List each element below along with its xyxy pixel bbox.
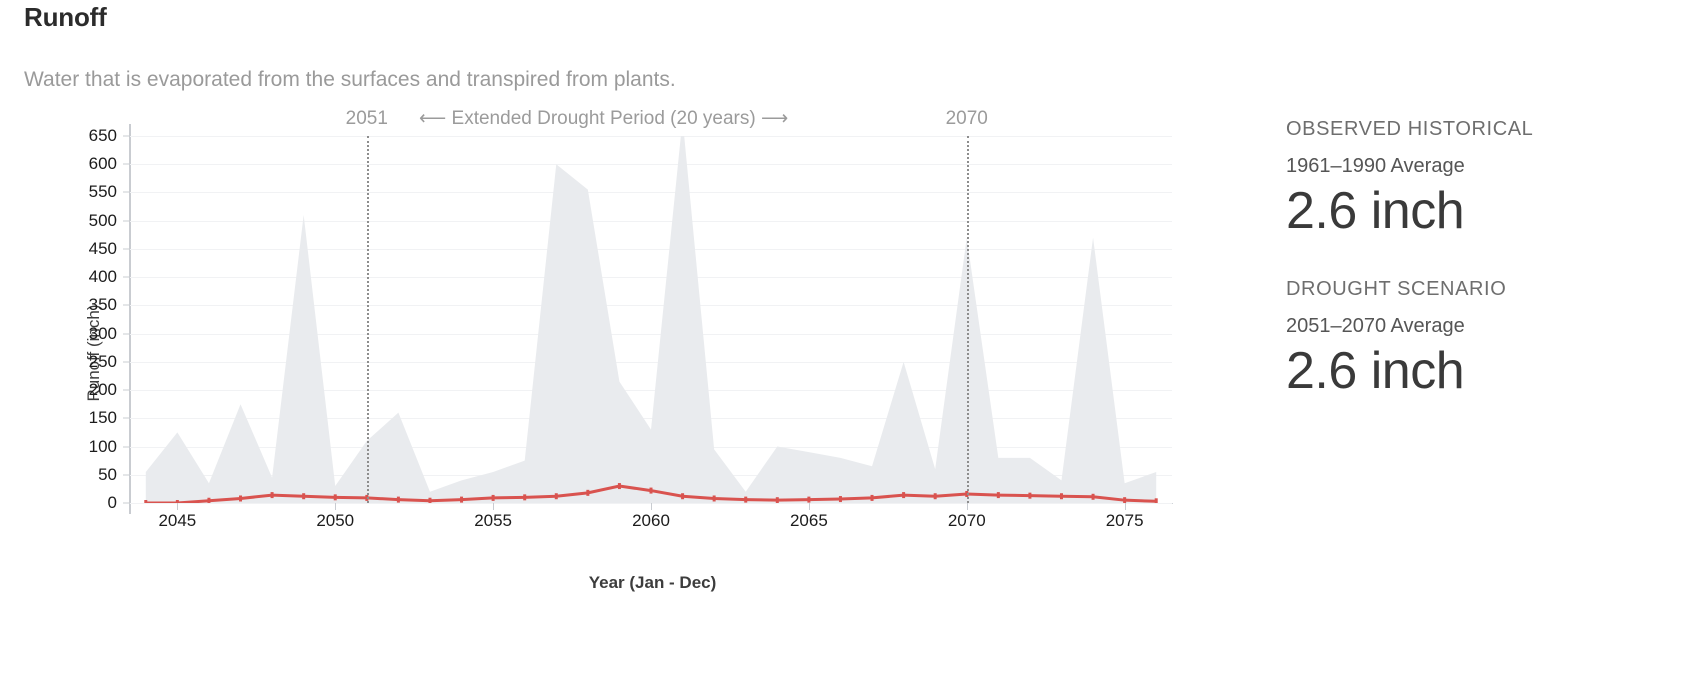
page-title: Runoff [24,2,107,33]
runoff-chart: Runoff (inch) 05010015020025030035040045… [0,118,1260,678]
data-point-marker [460,497,463,503]
x-tick-mark [1125,503,1126,510]
data-point-marker [681,493,684,499]
runoff-panel: Runoff Water that is evaporated from the… [0,0,1706,680]
stat-drought-scenario: DROUGHT SCENARIO 2051–2070 Average 2.6 i… [1286,278,1686,402]
data-point-marker [523,494,526,500]
x-tick-mark [493,503,494,510]
y-tick-mark [123,333,130,334]
y-tick-mark [123,192,130,193]
data-point-marker [839,496,842,502]
x-tick-label: 2070 [948,511,986,531]
x-tick-label: 2060 [632,511,670,531]
drought-boundary-label: 2051 [346,108,388,130]
x-tick-label: 2055 [474,511,512,531]
data-point-marker [397,497,400,503]
data-point-marker [934,493,937,499]
y-tick-label: 300 [89,324,126,344]
page-subtitle: Water that is evaporated from the surfac… [24,68,676,92]
data-point-marker [650,488,653,494]
data-point-marker [1028,493,1031,499]
data-point-marker [586,490,589,496]
y-tick-mark [123,220,130,221]
x-tick-label: 2050 [316,511,354,531]
y-tick-mark [123,277,130,278]
stat-kicker: DROUGHT SCENARIO [1286,278,1686,301]
data-point-marker [555,493,558,499]
data-point-marker [902,492,905,498]
x-tick-label: 2065 [790,511,828,531]
y-tick-label: 550 [89,182,126,202]
x-tick-mark [335,503,336,510]
y-tick-mark [123,474,130,475]
x-tick-label: 2075 [1106,511,1144,531]
x-tick-mark [809,503,810,510]
data-point-marker [207,498,210,503]
y-tick-label: 500 [89,211,126,231]
area-series [146,136,1156,503]
data-point-marker [776,497,779,503]
data-point-marker [807,497,810,503]
stat-value: 2.6 inch [1286,342,1686,402]
y-tick-mark [123,446,130,447]
data-point-marker [239,495,242,501]
data-point-marker [713,495,716,501]
x-tick-label: 2045 [158,511,196,531]
data-point-marker [618,483,621,489]
y-tick-mark [123,164,130,165]
summary-stats: OBSERVED HISTORICAL 1961–1990 Average 2.… [1286,118,1686,402]
x-axis-label: Year (Jan - Dec) [130,573,1175,593]
data-point-marker [492,495,495,501]
data-point-marker [997,492,1000,498]
drought-boundary-label: 2070 [946,108,988,130]
data-point-marker [744,497,747,503]
data-point-marker [144,500,147,503]
stat-kicker: OBSERVED HISTORICAL [1286,118,1686,141]
data-point-marker [871,495,874,501]
data-point-marker [302,493,305,499]
stat-observed-historical: OBSERVED HISTORICAL 1961–1990 Average 2.… [1286,118,1686,242]
y-tick-mark [123,248,130,249]
x-tick-mark [967,503,968,510]
data-point-marker [428,498,431,503]
y-tick-label: 250 [89,352,126,372]
y-tick-label: 450 [89,239,126,259]
y-tick-label: 50 [98,465,126,485]
data-point-marker [1092,494,1095,500]
data-point-marker [271,492,274,498]
data-point-marker [1123,497,1126,503]
data-point-marker [334,494,337,500]
y-tick-label: 650 [89,126,126,146]
y-tick-label: 350 [89,295,126,315]
y-tick-mark [123,305,130,306]
y-tick-label: 150 [89,408,126,428]
y-tick-mark [123,503,130,504]
stat-value: 2.6 inch [1286,182,1686,242]
data-point-marker [1155,498,1158,503]
y-tick-label: 100 [89,437,126,457]
stat-period: 1961–1990 Average [1286,155,1686,178]
y-tick-label: 400 [89,267,126,287]
y-tick-mark [123,390,130,391]
drought-period-annotation: ⟵ Extended Drought Period (20 years) ⟶ [419,107,788,130]
stat-period: 2051–2070 Average [1286,315,1686,338]
drought-boundary-line [967,136,969,503]
y-tick-label: 600 [89,154,126,174]
plot-area: 050100150200250300350400450500550600650 … [130,136,1172,503]
y-tick-label: 200 [89,380,126,400]
drought-boundary-line [367,136,369,503]
y-tick-mark [123,418,130,419]
data-point-marker [1060,493,1063,499]
x-tick-mark [177,503,178,510]
y-tick-mark [123,136,130,137]
x-tick-mark [651,503,652,510]
data-point-marker [176,500,179,503]
y-tick-mark [123,361,130,362]
series-layer [130,136,1172,503]
